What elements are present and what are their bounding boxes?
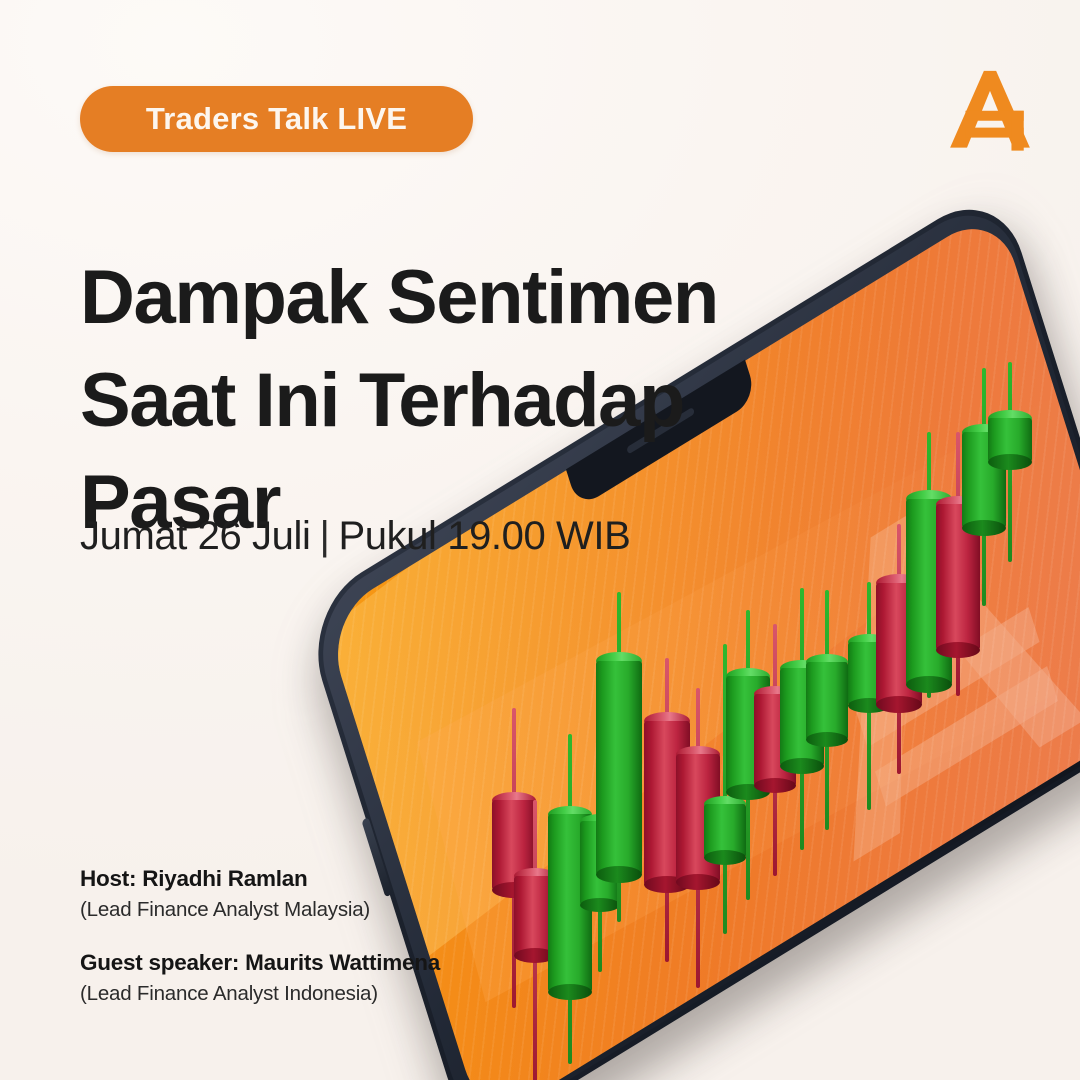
- headline-line-2: Saat Ini Terhadap: [80, 350, 800, 453]
- speaker-credits: Host: Riyadhi Ramlan (Lead Finance Analy…: [80, 866, 550, 1006]
- page-title: Dampak Sentimen Saat Ini Terhadap Pasar: [80, 247, 800, 555]
- credit-host: Host: Riyadhi Ramlan (Lead Finance Analy…: [80, 866, 550, 922]
- guest-speaker-role: (Lead Finance Analyst Indonesia): [80, 982, 550, 1006]
- poster-canvas: Traders Talk LIVE Dampak Sentimen Saat I…: [0, 0, 1080, 1080]
- event-date: Jumat 26 Juli: [80, 514, 310, 558]
- datetime-separator: |: [319, 514, 329, 559]
- live-badge[interactable]: Traders Talk LIVE: [80, 86, 473, 152]
- live-badge-label: Traders Talk LIVE: [146, 101, 407, 137]
- brand-logo-letter-a-icon: [944, 62, 1036, 158]
- event-datetime: Jumat 26 Juli|Pukul 19.00 WIB: [80, 514, 630, 559]
- host-name: Host: Riyadhi Ramlan: [80, 866, 550, 892]
- headline-line-1: Dampak Sentimen: [80, 247, 800, 350]
- event-time: Pukul 19.00 WIB: [338, 514, 630, 558]
- credit-guest-speaker: Guest speaker: Maurits Wattimena (Lead F…: [80, 950, 550, 1006]
- guest-speaker-name: Guest speaker: Maurits Wattimena: [80, 950, 550, 976]
- host-role: (Lead Finance Analyst Malaysia): [80, 898, 550, 922]
